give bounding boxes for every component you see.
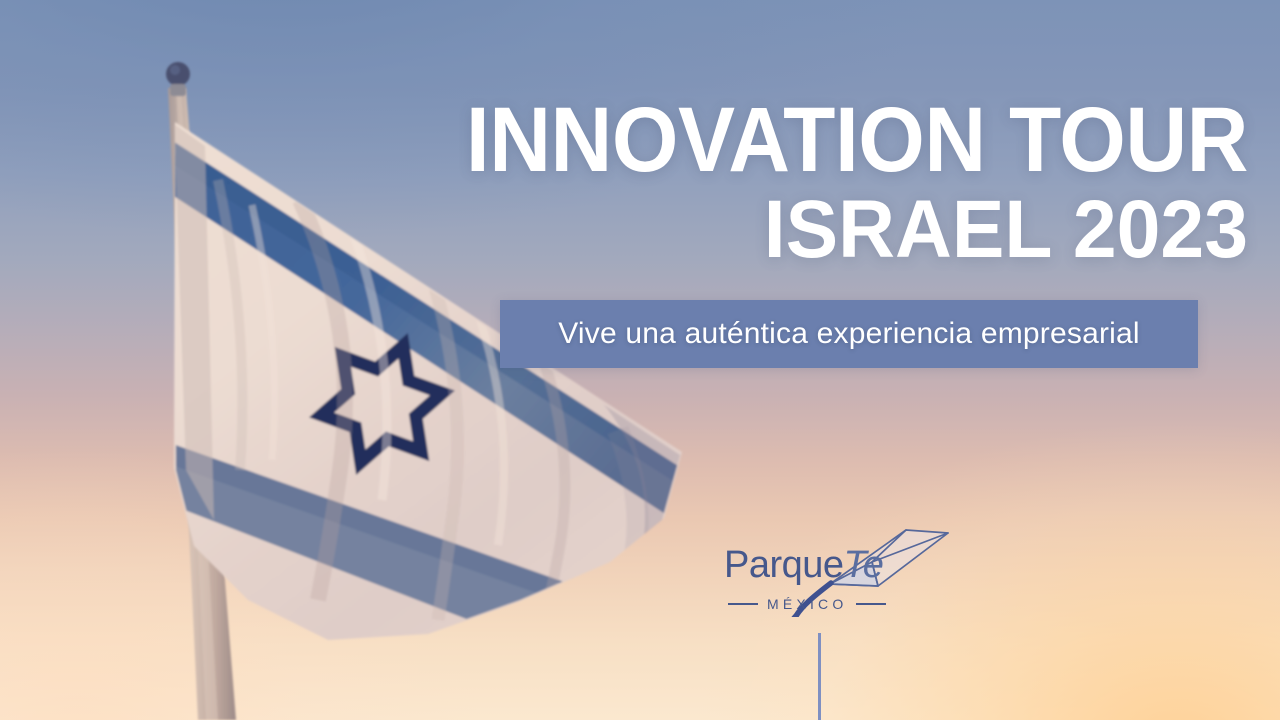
parquetec-logo[interactable]: ParqueTe MÉXICO <box>710 512 960 617</box>
poster-canvas: INNOVATION TOUR ISRAEL 2023 Vive una aut… <box>0 0 1280 720</box>
page-title-line2: ISRAEL 2023 <box>50 189 1248 271</box>
logo-brand-primary: Parque <box>724 544 844 586</box>
logo-dash-left <box>728 603 758 605</box>
subtitle-banner: Vive una auténtica experiencia empresari… <box>500 300 1198 368</box>
vertical-accent-line <box>818 633 821 720</box>
page-title-line1: INNOVATION TOUR <box>87 96 1248 185</box>
logo-wordmark: ParqueTe <box>724 546 883 584</box>
subtitle-text: Vive una auténtica experiencia empresari… <box>558 317 1140 351</box>
logo-dash-right <box>856 603 886 605</box>
logo-country-label: MÉXICO <box>767 596 847 612</box>
headline-block: INNOVATION TOUR ISRAEL 2023 <box>0 96 1248 271</box>
logo-brand-secondary: Te <box>844 544 884 586</box>
logo-country-row: MÉXICO <box>728 596 933 612</box>
